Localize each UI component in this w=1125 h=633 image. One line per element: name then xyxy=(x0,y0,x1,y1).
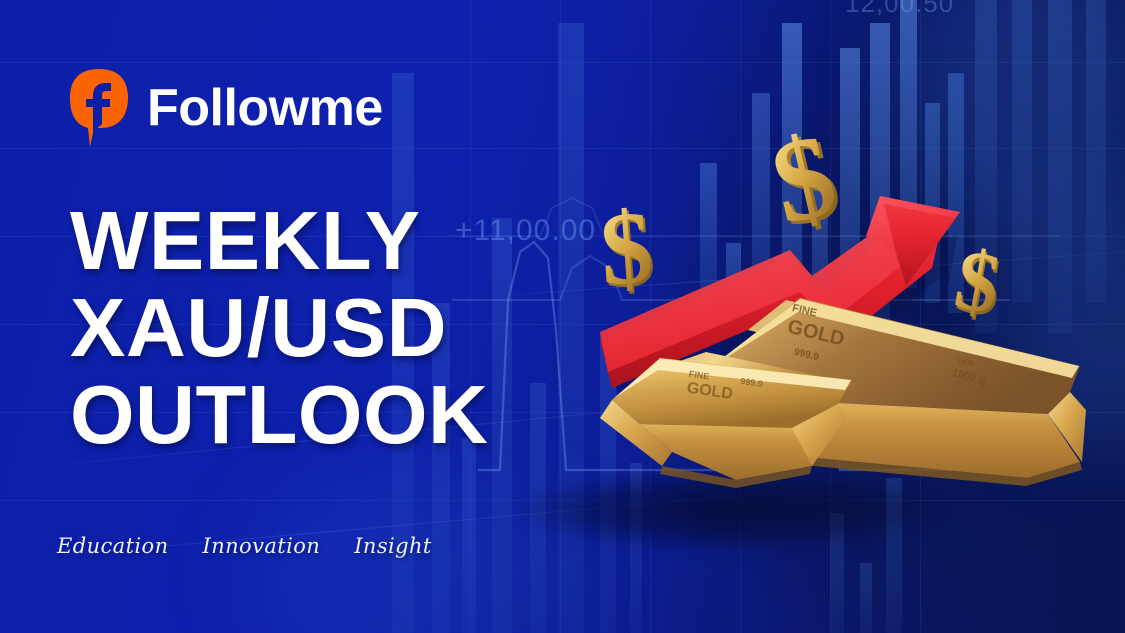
headline-line-2: XAU/USD xyxy=(70,284,488,371)
brand-logo[interactable]: Followme xyxy=(68,68,383,148)
page-title: WEEKLY XAU/USD OUTLOOK xyxy=(70,197,488,458)
headline-line-3: OUTLOOK xyxy=(70,371,488,458)
gold-bar-shadow xyxy=(520,470,940,550)
tagline: Education Innovation Insight xyxy=(57,534,432,558)
tagline-item-insight: Insight xyxy=(354,534,432,558)
tagline-item-innovation: Innovation xyxy=(203,534,321,558)
tagline-item-education: Education xyxy=(57,534,169,558)
brand-name: Followme xyxy=(147,82,383,134)
watermark-number: 12,00.50 xyxy=(845,0,954,19)
followme-speech-bubble-f-icon xyxy=(68,68,130,148)
headline-line-1: WEEKLY xyxy=(70,197,488,284)
weekly-xauusd-outlook-banner: +11,00.00 12,00.50 xyxy=(0,0,1125,633)
